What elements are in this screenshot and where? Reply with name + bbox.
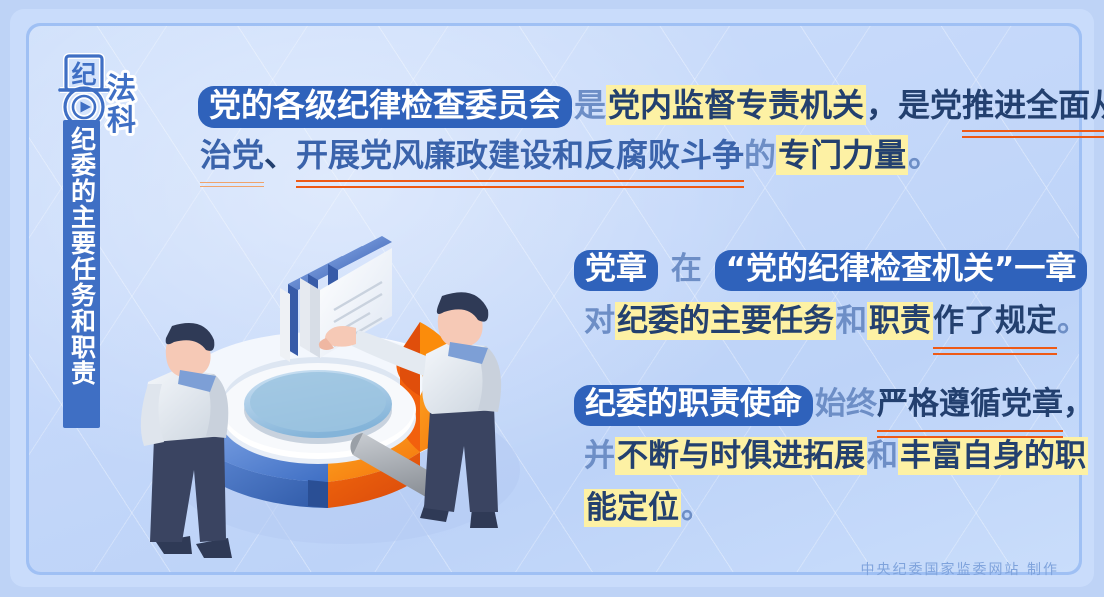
text-he-2: 和: [867, 438, 898, 474]
text-dui: 对: [584, 303, 615, 339]
underline-yangezunxun: 严格遵循党章: [877, 378, 1063, 430]
highlight-fengfuzishen: 丰富自身的职: [898, 437, 1088, 475]
paragraph-1: 党的各级纪律检查委员会是党内监督专责机关，是党推进全面从严 治党、开展党风廉政建…: [196, 80, 1104, 180]
main-illustration: [120, 170, 560, 570]
svg-text:科: 科: [107, 103, 136, 137]
badge-zhizeshiming: 纪委的职责使命: [574, 385, 813, 426]
underline-zhidang: 治党: [200, 130, 264, 180]
vertical-title-text: 纪委的主要任务和职责: [68, 126, 96, 386]
badge-dangde-gejijilv: 党的各级纪律检查委员会: [198, 86, 572, 128]
highlight-zhuanmenliliang: 专门力量: [776, 135, 908, 175]
paragraph-1-line-1: 党的各级纪律检查委员会是党内监督专责机关，是党推进全面从严: [196, 80, 1104, 130]
poster-canvas: 纪 法 法 科 科 纪委的主要任务和职责: [0, 0, 1104, 597]
text-he: 和: [836, 303, 867, 339]
highlight-zhuyaorenwu: 纪委的主要任务: [615, 302, 836, 340]
text-period-3: 。: [681, 490, 712, 526]
text-de: 的: [744, 136, 776, 174]
badge-dangzhang: 党章: [574, 250, 658, 291]
highlight-yushijujintuozhan: 不断与时俱进拓展: [615, 437, 867, 475]
text-shidang: ，是党: [866, 86, 962, 124]
paragraph-2: 党章 在 “党的纪律检查机关”一章 对纪委的主要任务和职责作了规定。: [572, 243, 1089, 347]
paragraph-3-line-1: 纪委的职责使命始终严格遵循党章，: [572, 378, 1094, 430]
underline-zuoleguiding: 作了规定: [933, 295, 1057, 347]
footer-credit: 中央纪委国家监委网站 制作: [861, 559, 1059, 579]
text-comma-3: ，: [1063, 386, 1094, 422]
underline-kaizhandangfeng: 开展党风廉政建设和反腐败斗争: [296, 130, 744, 180]
person-left-trousers: [150, 432, 226, 542]
paragraph-2-line-1: 党章 在 “党的纪律检查机关”一章: [572, 243, 1089, 295]
svg-text:纪: 纪: [71, 60, 96, 89]
badge-jilvjianchajiguan: “党的纪律检查机关”一章: [715, 250, 1088, 291]
text-period-2: 。: [1057, 303, 1088, 339]
text-shizhong: 始终: [815, 386, 877, 422]
paragraph-3: 纪委的职责使命始终严格遵循党章， 并不断与时俱进拓展和丰富自身的职 能定位。: [572, 378, 1094, 534]
text-period-1: 。: [908, 136, 940, 174]
highlight-zhize: 职责: [867, 302, 933, 340]
text-shi: 是: [574, 86, 606, 124]
text-bing: 并: [584, 438, 615, 474]
text-zai: 在: [660, 251, 713, 287]
highlight-nengdingwei: 能定位: [584, 489, 681, 527]
text-comma: 、: [264, 136, 296, 174]
svg-text:法: 法: [107, 71, 136, 105]
highlight-dangneijiandu: 党内监督专责机关: [606, 85, 866, 125]
vertical-title-banner: 纪委的主要任务和职责: [63, 120, 100, 428]
paragraph-2-line-2: 对纪委的主要任务和职责作了规定。: [572, 295, 1089, 347]
underline-tuijinquanmian: 推进全面从严: [962, 80, 1104, 130]
paragraph-3-line-3: 能定位。: [572, 482, 1094, 534]
